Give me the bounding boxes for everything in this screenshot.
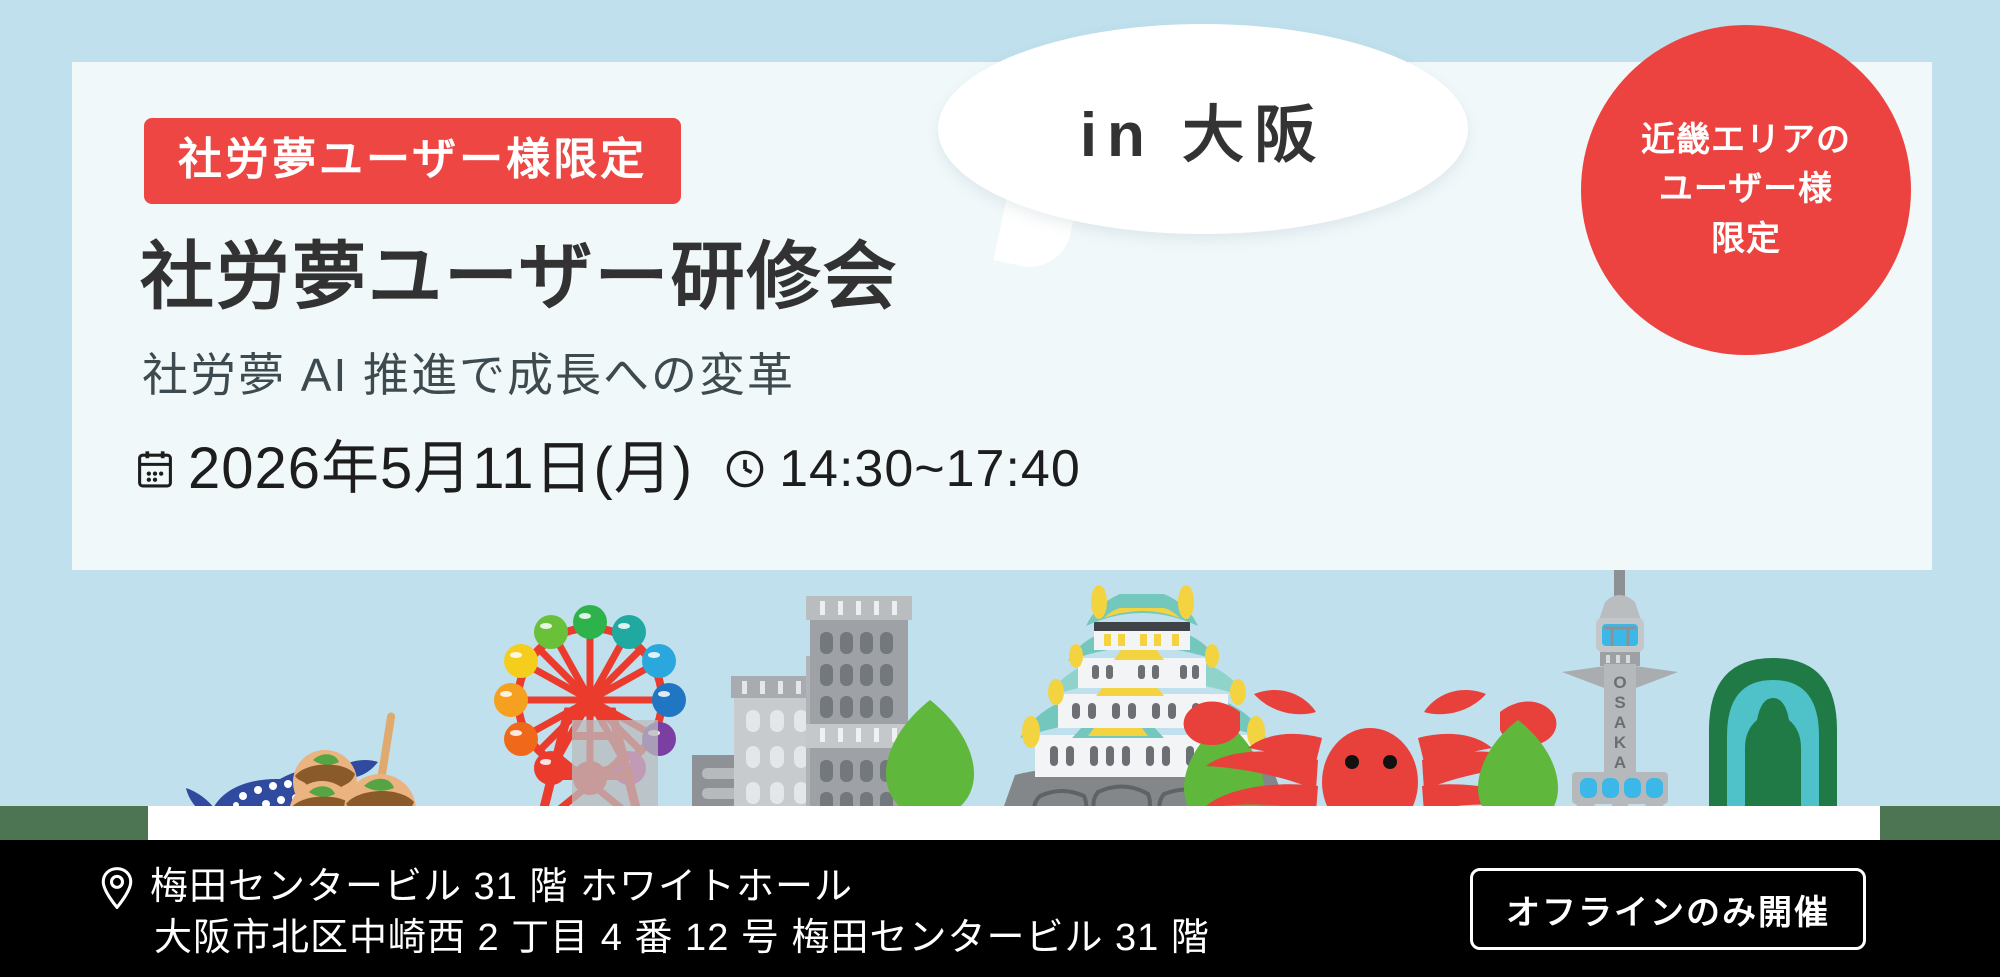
area-circle-line-2: ユーザー様	[1659, 165, 1833, 214]
ground-strip	[0, 806, 2000, 840]
clock-icon	[725, 449, 765, 489]
venue-info: 梅田センタービル 31 階 ホワイトホール 大阪市北区中崎西 2 丁目 4 番 …	[100, 862, 1210, 965]
venue-address: 大阪市北区中崎西 2 丁目 4 番 12 号 梅田センタービル 31 階	[154, 913, 1210, 964]
speech-bubble-text: in 大阪	[938, 24, 1468, 234]
format-badge: オフラインのみ開催	[1470, 868, 1866, 950]
svg-text:A: A	[1614, 753, 1626, 772]
tsutenkaku-tower-icon: O S A K A	[1562, 560, 1678, 840]
poster-stage: O S A K A	[0, 0, 2000, 977]
ferris-wheel-icon	[494, 605, 686, 840]
office-buildings-icon	[692, 596, 912, 840]
svg-text:A: A	[1614, 713, 1626, 732]
event-time: 14:30~17:40	[779, 443, 1081, 495]
area-limited-circle: 近畿エリアの ユーザー様 限定	[1581, 25, 1911, 355]
audience-badge: 社労夢ユーザー様限定	[144, 118, 681, 204]
ground-green-right	[1880, 806, 2000, 840]
area-circle-line-1: 近畿エリアの	[1641, 116, 1851, 165]
map-pin-icon	[100, 867, 134, 909]
area-circle-line-3: 限定	[1711, 215, 1781, 264]
event-date: 2026年5月11日(月)	[188, 440, 693, 498]
ground-green-left	[0, 806, 148, 840]
venue-name: 梅田センタービル 31 階 ホワイトホール	[150, 862, 853, 913]
osaka-illustration: O S A K A	[0, 560, 2000, 840]
svg-text:S: S	[1614, 693, 1625, 712]
calendar-icon	[136, 449, 174, 489]
page-subtitle: 社労夢 AI 推進で成長への変革	[142, 352, 795, 398]
date-time-row: 2026年5月11日(月) 14:30~17:40	[136, 440, 1081, 498]
page-title: 社労夢ユーザー研修会	[140, 240, 899, 314]
svg-text:K: K	[1614, 733, 1627, 752]
venue-name-row: 梅田センタービル 31 階 ホワイトホール	[100, 862, 1210, 913]
svg-text:O: O	[1613, 673, 1626, 692]
